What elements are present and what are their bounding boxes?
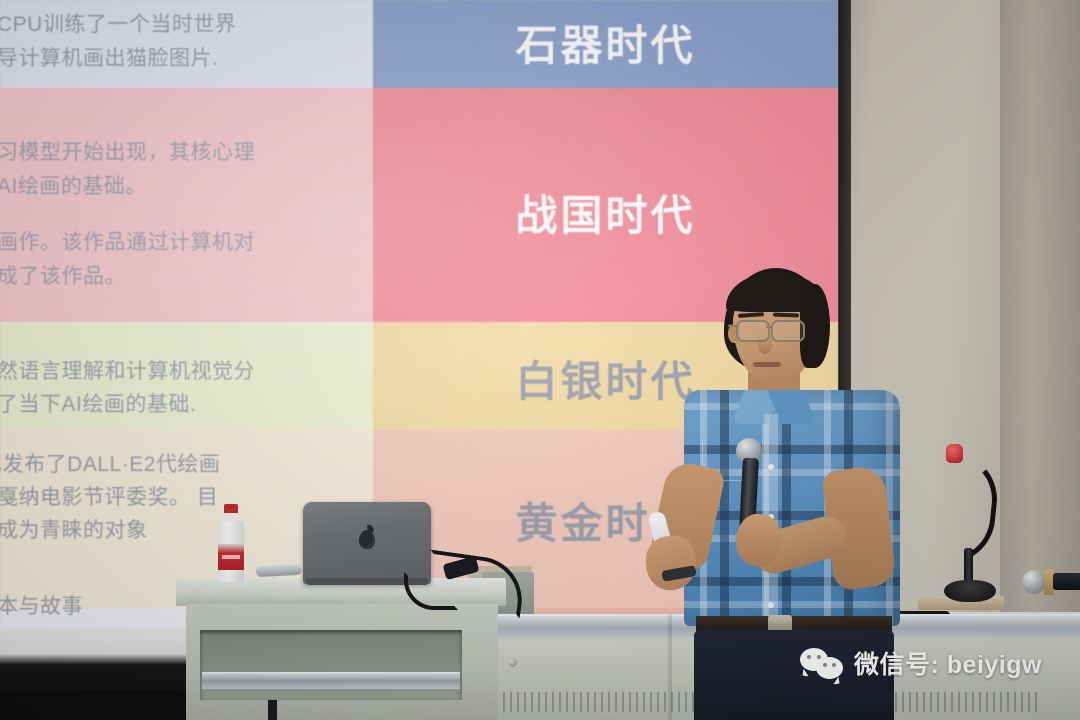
slide-text-warring-line-1: 度学习模型开始出现，其核心理 [0, 136, 374, 170]
wechat-watermark: 微信号: beiyigw [800, 645, 1042, 681]
bottle-label [218, 544, 244, 570]
apple-logo-icon [359, 530, 375, 549]
slide-label-stone-age: 石器时代 [373, 12, 838, 73]
wechat-eye [807, 655, 811, 659]
wechat-bubble-small [816, 657, 843, 679]
handheld-microphone-on-rack[interactable] [1022, 568, 1080, 598]
microphone-handle [1053, 573, 1080, 590]
bottle-neck [226, 513, 236, 523]
eyeglasses-bridge [766, 326, 773, 328]
wechat-eye [832, 663, 836, 667]
slide-text-stone-age-line-1: 万个CPU训练了一个当时世界 [0, 8, 374, 42]
slide-text-silver-line-2: 成为了当下AI绘画的基础. [0, 388, 374, 422]
drawer-slide-rail [202, 672, 460, 689]
gooseneck-microphone [938, 428, 998, 618]
screenshot-root: 万个CPU训练了一个当时世界 来指导计算机画出猫脸图片. 石器时代 度学习模型开… [0, 0, 1080, 720]
concrete-pillar [1000, 0, 1080, 650]
wechat-id-text: 微信号: beiyigw [854, 645, 1042, 681]
water-bottle [217, 504, 245, 582]
rack-screw [508, 658, 517, 667]
slide-text-silver-line-1: 行自然语言理解和计算机视觉分 [0, 355, 374, 389]
slide-text-warring-line-2: 成为AI绘画的基础。 [0, 170, 374, 204]
lectern-leg [268, 700, 277, 720]
slide-text-stone-age-line-2: 来指导计算机画出猫脸图片. [0, 42, 374, 76]
microphone-red-indicator[interactable] [946, 444, 963, 463]
shirt-button [768, 464, 774, 470]
nose [758, 336, 772, 354]
slide-text-warring-line-4: 成的画作。该作品通过计算机对 [0, 226, 374, 260]
lectern-drawer [200, 630, 462, 700]
bottle-cap [224, 504, 238, 513]
slide-text-golden-line-1: AI 也发布了DALL·E2代绘画 [0, 448, 374, 482]
eyebrow-right [773, 313, 799, 318]
microphone-grille-icon [1022, 570, 1046, 594]
wechat-logo-icon [800, 646, 844, 680]
wechat-eye [823, 663, 827, 667]
slide-text-warring-line-5: 析完成了该作品。 [0, 260, 374, 294]
eyeglasses-lens-right [771, 320, 805, 342]
slide-label-warring-states-age: 战国时代 [373, 182, 838, 243]
mouth [753, 362, 781, 367]
shirt-button [768, 602, 774, 608]
gooseneck-base [944, 580, 996, 602]
